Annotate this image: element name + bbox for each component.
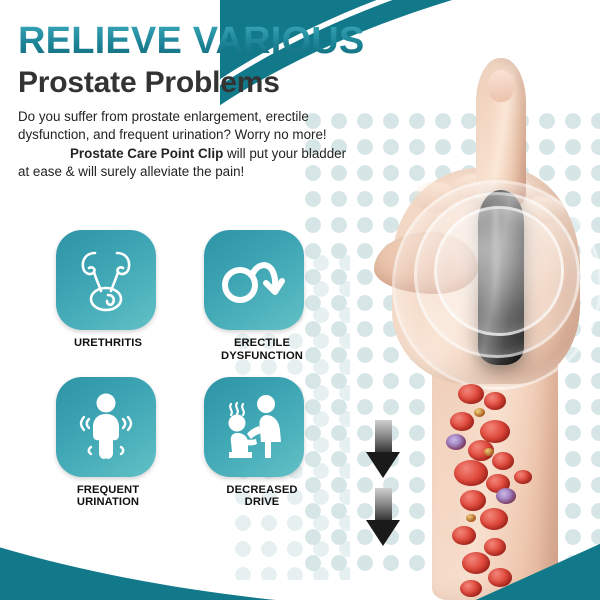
page-title: RELIEVE VARIOUS bbox=[18, 22, 398, 61]
body-line-2: dysfunction, and frequent urination? Wor… bbox=[18, 127, 327, 142]
kidney-bladder-icon bbox=[75, 245, 137, 315]
downward-flow-arrow bbox=[366, 420, 400, 478]
red-blood-cell-stream bbox=[440, 382, 544, 600]
symptom-card-erectile-dysfunction: ERECTILE DYSFUNCTION bbox=[204, 230, 308, 363]
male-symbol-drooping-arrow-icon bbox=[220, 252, 288, 308]
headline-block: RELIEVE VARIOUS Prostate Problems Do you… bbox=[18, 22, 398, 182]
page-subtitle: Prostate Problems bbox=[18, 67, 398, 98]
advertisement-poster: RELIEVE VARIOUS Prostate Problems Do you… bbox=[0, 0, 600, 600]
symptom-tile bbox=[204, 230, 304, 330]
body-line-3: will put your bladder bbox=[223, 146, 346, 161]
symptom-label: URETHRITIS bbox=[56, 337, 160, 350]
person-urgency-icon bbox=[75, 391, 137, 463]
symptom-tile bbox=[56, 230, 156, 330]
symptom-card-frequent-urination: FREQUENT URINATION bbox=[56, 377, 160, 510]
symptom-label: DECREASED DRIVE bbox=[210, 484, 314, 510]
body-line-1: Do you suffer from prostate enlargement,… bbox=[18, 109, 309, 124]
body-line-4: at ease & will surely alleviate the pain… bbox=[18, 164, 244, 179]
symptom-card-decreased-drive: DECREASED DRIVE bbox=[204, 377, 308, 510]
hand-photo-composite bbox=[380, 0, 600, 600]
symptom-card-grid: URETHRITIS ERECTILE DYSFUNCTION bbox=[56, 230, 316, 509]
vibration-ripple-ring bbox=[392, 180, 600, 390]
couple-low-libido-icon bbox=[219, 392, 289, 462]
symptom-tile bbox=[56, 377, 156, 477]
body-copy: Do you suffer from prostate enlargement,… bbox=[18, 108, 398, 182]
symptom-label: FREQUENT URINATION bbox=[56, 484, 160, 510]
product-name: Prostate Care Point Clip bbox=[70, 146, 223, 161]
fingernail bbox=[488, 70, 514, 102]
symptom-label: ERECTILE DYSFUNCTION bbox=[210, 337, 314, 363]
symptom-tile bbox=[204, 377, 304, 477]
symptom-card-urethritis: URETHRITIS bbox=[56, 230, 160, 363]
downward-flow-arrow bbox=[366, 488, 400, 546]
